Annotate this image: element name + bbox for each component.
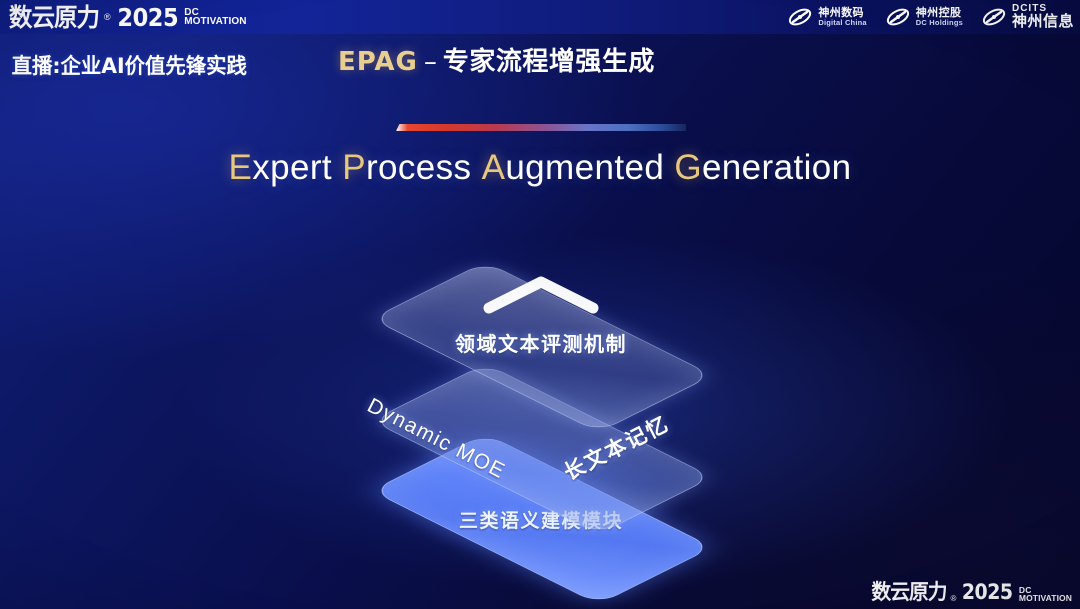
- isometric-layer-stack: 三类语义建模模块 Dynamic MOE 长文本记忆 领域文本评测机制: [296, 228, 786, 568]
- expansion-word-process: rocess: [366, 148, 472, 187]
- partner-logo-digital-china: 神州数码 Digital China: [787, 6, 866, 28]
- chevron-up-icon: [481, 272, 601, 316]
- watermark-cn: 数云原力: [871, 582, 946, 603]
- partner-logo-text: DCITS 神州信息: [1012, 4, 1074, 29]
- swoosh-icon: [885, 6, 911, 28]
- partner-name-en: DC Holdings: [916, 19, 963, 27]
- expansion-word-augmented: ugmented: [505, 148, 664, 187]
- expansion-initial-g: G: [674, 148, 702, 187]
- watermark-year: 2025: [962, 582, 1013, 603]
- partner-logo-group: 神州数码 Digital China 神州控股 DC Holdings: [787, 3, 1074, 31]
- event-logo-motivation: MOTIVATION: [184, 17, 246, 26]
- event-logo-cn: 数云原力: [9, 5, 99, 30]
- expansion-initial-p: P: [342, 148, 366, 187]
- partner-logo-text: 神州控股 DC Holdings: [916, 8, 963, 27]
- swoosh-icon: [787, 6, 813, 28]
- swoosh-icon: [981, 6, 1007, 28]
- page-title-acronym: EPAG: [338, 47, 418, 77]
- expansion-word-expert: xpert: [252, 148, 332, 187]
- event-logo-dc-motivation: DC MOTIVATION: [184, 8, 246, 26]
- expansion-word-generation: eneration: [702, 148, 852, 187]
- event-logo-year: 2025: [117, 5, 178, 30]
- acronym-expansion: Expert Process Augmented Generation: [0, 148, 1080, 188]
- event-logo-top-left: 数云原力 ® 2025 DC MOTIVATION: [6, 2, 247, 32]
- page-title-separator: –: [424, 47, 437, 77]
- top-layer-label: 领域文本评测机制: [296, 328, 786, 357]
- partner-logo-text: 神州数码 Digital China: [818, 8, 866, 27]
- expansion-initial-e: E: [229, 148, 253, 187]
- watermark-registered-mark: ®: [951, 595, 957, 603]
- watermark-motivation: MOTIVATION: [1019, 595, 1072, 603]
- partner-name-cn: 神州信息: [1012, 14, 1074, 29]
- live-broadcast-tag: 直播:企业AI价值先锋实践: [12, 50, 247, 80]
- watermark-logo-bottom-right: 数云原力 ® 2025 DC MOTIVATION: [869, 582, 1072, 603]
- event-logo-registered-mark: ®: [104, 13, 111, 22]
- partner-logo-dcits: DCITS 神州信息: [981, 4, 1074, 29]
- slide-canvas: 数云原力 ® 2025 DC MOTIVATION 神州数码 Digital C…: [0, 0, 1080, 609]
- page-title: EPAG–专家流程增强生成: [338, 48, 655, 77]
- expansion-initial-a: A: [482, 148, 506, 187]
- accent-divider: [396, 124, 686, 131]
- watermark-dc-motivation: DC MOTIVATION: [1019, 587, 1072, 603]
- partner-logo-dc-holdings: 神州控股 DC Holdings: [885, 6, 963, 28]
- partner-name-en: Digital China: [818, 19, 866, 27]
- page-title-cn: 专家流程增强生成: [443, 47, 655, 77]
